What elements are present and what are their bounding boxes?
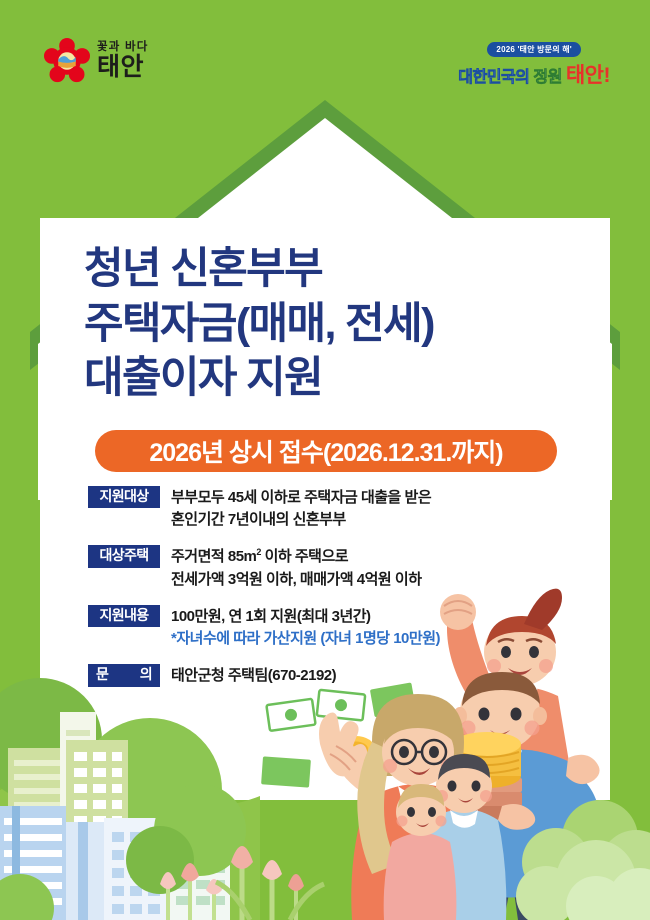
contact-label-left: 문: [96, 667, 108, 682]
detail-line: 부부모두 45세 이하로 주택자금 대출을 받은: [171, 487, 431, 509]
slogan-pill: 2026 '태안 방문의 해': [487, 42, 580, 57]
headline-line-3: 대출이자 지원: [84, 351, 434, 406]
headline-line-1: 청년 신혼부부: [84, 242, 434, 297]
detail-row-support-content: 지원내용 100만원, 연 1회 지원(최대 3년간) *자녀수에 따라 가산지…: [88, 605, 558, 650]
detail-line-area: 주거면적 85m2 이하 주택으로: [171, 546, 422, 568]
detail-line-contact: 태안군청 주택팀(670-2192): [171, 665, 336, 687]
detail-body-contact: 태안군청 주택팀(670-2192): [171, 664, 336, 687]
detail-row-contact: 문 의 태안군청 주택팀(670-2192): [88, 664, 558, 687]
visit-year-slogan: 2026 '태안 방문의 해' 대한민국의 정원 태안!: [458, 42, 610, 89]
detail-label-eligibility: 지원대상: [88, 486, 160, 508]
logo-title: 태안: [97, 55, 149, 80]
headline-line-2: 주택자금(매매, 전세): [84, 297, 434, 352]
area-text-a: 주거면적 85m: [171, 548, 256, 565]
detail-line: 혼인기간 7년이내의 신혼부부: [171, 509, 431, 531]
slogan-word-1: 대한민국의: [458, 63, 529, 87]
poster-header: 꽃과 바다 태안 2026 '태안 방문의 해' 대한민국의 정원 태안!: [0, 0, 650, 100]
logo-wordmark: 꽃과 바다 태안: [97, 42, 149, 81]
detail-body-target-housing: 주거면적 85m2 이하 주택으로 전세가액 3억원 이하, 매매가액 4억원 …: [171, 545, 422, 590]
area-text-b: 이하 주택으로: [261, 548, 348, 565]
detail-label-support-content: 지원내용: [88, 605, 160, 627]
detail-rows: 지원대상 부부모두 45세 이하로 주택자금 대출을 받은 혼인기간 7년이내의…: [88, 486, 558, 701]
detail-label-contact: 문 의: [88, 664, 160, 686]
contact-label-right: 의: [140, 667, 152, 682]
detail-body-eligibility: 부부모두 45세 이하로 주택자금 대출을 받은 혼인기간 7년이내의 신혼부부: [171, 486, 431, 531]
slogan-word-3: 태안!: [566, 59, 610, 89]
poster-root: 꽃과 바다 태안 2026 '태안 방문의 해' 대한민국의 정원 태안! 청년…: [0, 0, 650, 920]
detail-body-support-content: 100만원, 연 1회 지원(최대 3년간) *자녀수에 따라 가산지원 (자녀…: [171, 605, 440, 650]
poster-headline: 청년 신혼부부 주택자금(매매, 전세) 대출이자 지원: [84, 242, 434, 406]
slogan-word-2: 정원: [533, 63, 561, 87]
detail-line: 100만원, 연 1회 지원(최대 3년간): [171, 606, 440, 628]
application-period-banner: 2026년 상시 접수(2026.12.31.까지): [95, 430, 557, 472]
red-flower-icon: [44, 38, 90, 84]
detail-row-eligibility: 지원대상 부부모두 45세 이하로 주택자금 대출을 받은 혼인기간 7년이내의…: [88, 486, 558, 531]
taean-logo: 꽃과 바다 태안: [44, 38, 149, 84]
slogan-main: 대한민국의 정원 태안!: [458, 59, 610, 89]
detail-line: 전세가액 3억원 이하, 매매가액 4억원 이하: [171, 569, 422, 591]
detail-label-target-housing: 대상주택: [88, 545, 160, 567]
detail-row-target-housing: 대상주택 주거면적 85m2 이하 주택으로 전세가액 3억원 이하, 매매가액…: [88, 545, 558, 590]
detail-line-note: *자녀수에 따라 가산지원 (자녀 1명당 10만원): [171, 628, 440, 650]
logo-subtitle: 꽃과 바다: [97, 42, 149, 54]
